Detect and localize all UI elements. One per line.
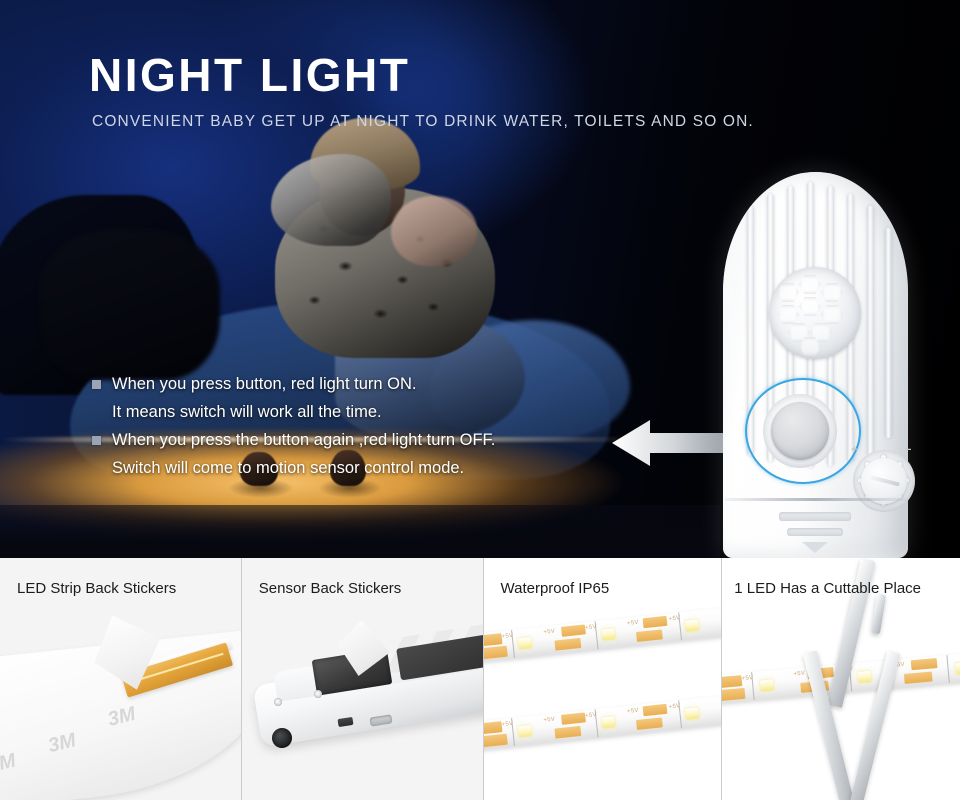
foreground-floor-dark xyxy=(0,505,720,558)
strip-voltage-label: +5V xyxy=(501,721,513,728)
vent-bar xyxy=(779,512,851,521)
list-item: When you press button, red light turn ON… xyxy=(92,372,632,397)
button-highlight-circle xyxy=(745,378,861,484)
panel-cuttable-place: 1 LED Has a Cuttable Place +5V +5V +5V +… xyxy=(721,558,960,800)
instruction-detail: It means switch will work all the time. xyxy=(112,400,632,425)
page-title: NIGHT LIGHT xyxy=(89,52,410,98)
panel-label: 1 LED Has a Cuttable Place xyxy=(734,580,921,597)
strip-voltage-label: +5V xyxy=(742,675,754,682)
panel-label: Sensor Back Stickers xyxy=(259,580,402,597)
pointer-arrow-icon xyxy=(612,418,724,468)
strip-voltage-label: +5V xyxy=(501,633,513,640)
product-infographic: NIGHT LIGHT CONVENIENT BABY GET UP AT NI… xyxy=(0,0,960,800)
panel-sensor-back-stickers: Sensor Back Stickers xyxy=(241,558,483,800)
knob-pointer xyxy=(870,475,900,486)
panel-led-strip-back-stickers: LED Strip Back Stickers 3M 3M 3M xyxy=(0,558,241,800)
screw-icon xyxy=(274,698,282,706)
vent-bar xyxy=(787,528,843,536)
instruction-text: When you press button, red light turn ON… xyxy=(112,372,417,397)
strip-voltage-label: +5V xyxy=(543,717,555,724)
panel-waterproof-ip65: Waterproof IP65 +5V +5V +5V +5V +5V xyxy=(483,558,722,800)
chevron-down-icon xyxy=(802,542,828,553)
hero-section: NIGHT LIGHT CONVENIENT BABY GET UP AT NI… xyxy=(0,0,960,558)
tape-brand-mark: 3M xyxy=(46,729,79,758)
page-subtitle: CONVENIENT BABY GET UP AT NIGHT TO DRINK… xyxy=(92,113,754,131)
led-strip: +5V +5V +5V +5V +5V xyxy=(483,606,722,662)
time-adjust-knob[interactable] xyxy=(853,450,915,512)
pir-lens xyxy=(769,267,861,359)
strip-voltage-label: +5V xyxy=(793,671,805,678)
device-seam xyxy=(725,498,906,501)
strip-voltage-label: +5V xyxy=(626,708,638,715)
instruction-detail: Switch will come to motion sensor contro… xyxy=(112,456,632,481)
instruction-text: When you press the button again ,red lig… xyxy=(112,428,495,453)
strip-voltage-label: +5V xyxy=(668,615,680,622)
list-item: When you press the button again ,red lig… xyxy=(92,428,632,453)
square-bullet-icon xyxy=(92,436,101,445)
led-strip: +5V +5V +5V +5V +5V xyxy=(483,694,722,750)
strip-voltage-label: +5V xyxy=(626,620,638,627)
strip-voltage-label: +5V xyxy=(668,703,680,710)
child-arm-left xyxy=(271,154,391,246)
instruction-list: When you press button, red light turn ON… xyxy=(92,372,632,484)
pir-motion-sensor-device: TIME + − xyxy=(723,172,908,558)
screw-icon xyxy=(314,690,322,698)
strip-voltage-label: +5V xyxy=(543,629,555,636)
strip-voltage-label: +5V xyxy=(584,624,596,631)
tape-brand-mark: 3M xyxy=(105,703,138,732)
square-bullet-icon xyxy=(92,380,101,389)
feature-panels: LED Strip Back Stickers 3M 3M 3M Sensor … xyxy=(0,558,960,800)
strip-voltage-label: +5V xyxy=(584,712,596,719)
child-arm-right xyxy=(391,196,477,266)
panel-label: LED Strip Back Stickers xyxy=(17,580,176,597)
tape-brand-mark: 3M xyxy=(0,750,18,779)
foreground-shadow xyxy=(40,230,220,380)
panel-label: Waterproof IP65 xyxy=(501,580,610,597)
